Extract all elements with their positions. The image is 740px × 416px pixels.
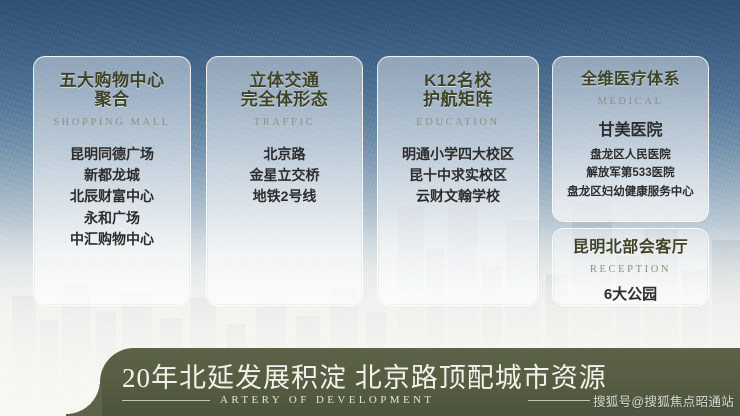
list-item: 云财文翰学校 — [384, 186, 532, 207]
card-title-line-2: 完全体形态 — [213, 90, 356, 109]
card-subtitle: RECEPTION — [559, 264, 702, 275]
poster-canvas: 五大购物中心 聚合 SHOPPING MALL 昆明同德广场 新都龙城 北辰财富… — [0, 0, 740, 416]
card-medical[interactable]: 全维医疗体系 MEDICAL 甘美医院 盘龙区人民医院 解放军第533医院 盘龙… — [552, 56, 709, 222]
list-item: 新都龙城 — [40, 165, 184, 186]
card-item-list: 昆明同德广场 新都龙城 北辰财富中心 永和广场 中汇购物中心 — [40, 144, 184, 250]
list-item: 中汇购物中心 — [40, 229, 184, 250]
banner-rule-left — [122, 400, 210, 401]
card-shopping-mall[interactable]: 五大购物中心 聚合 SHOPPING MALL 昆明同德广场 新都龙城 北辰财富… — [33, 56, 191, 306]
list-item: 昆明同德广场 — [40, 144, 184, 165]
card-item-list: 6大公园 — [559, 284, 702, 307]
list-item: 盘龙区妇幼健康服务中心 — [559, 183, 702, 202]
card-reception[interactable]: 昆明北部会客厅 RECEPTION 6大公园 — [552, 228, 709, 306]
card-title-line-1: 昆明北部会客厅 — [559, 239, 702, 257]
list-item: 北辰财富中心 — [40, 186, 184, 207]
list-item: 昆十中求实校区 — [384, 165, 532, 186]
list-item: 明通小学四大校区 — [384, 144, 532, 165]
watermark-text: 搜狐号@搜狐焦点昭通站 — [593, 391, 734, 410]
card-title: 五大购物中心 聚合 — [40, 71, 184, 110]
card-title: 全维医疗体系 — [559, 71, 702, 89]
card-lead-item: 甘美医院 — [559, 119, 702, 143]
banner-rule-right — [528, 400, 590, 401]
card-item-list: 甘美医院 盘龙区人民医院 解放军第533医院 盘龙区妇幼健康服务中心 — [559, 119, 702, 201]
card-education[interactable]: K12名校 护航矩阵 EDUCATION 明通小学四大校区 昆十中求实校区 云财… — [377, 56, 539, 306]
card-title-line-1: 五大购物中心 — [40, 71, 184, 90]
card-title-line-1: 全维医疗体系 — [559, 71, 702, 89]
list-item: 地铁2号线 — [213, 186, 356, 207]
list-item: 解放军第533医院 — [559, 164, 702, 183]
card-title-line-2: 护航矩阵 — [384, 90, 532, 109]
banner-headline: 20年北延发展积淀 北京路顶配城市资源 — [122, 356, 607, 395]
list-item: 金星立交桥 — [213, 165, 356, 186]
list-item: 北京路 — [213, 144, 356, 165]
list-item: 6大公园 — [559, 284, 702, 307]
card-title: K12名校 护航矩阵 — [384, 71, 532, 110]
card-title-line-1: K12名校 — [384, 71, 532, 90]
card-item-list: 明通小学四大校区 昆十中求实校区 云财文翰学校 — [384, 144, 532, 208]
card-subtitle: EDUCATION — [384, 117, 532, 128]
card-title-line-1: 立体交通 — [213, 71, 356, 90]
card-subtitle: MEDICAL — [559, 96, 702, 107]
list-item: 盘龙区人民医院 — [559, 146, 702, 165]
card-title: 昆明北部会客厅 — [559, 239, 702, 257]
card-title: 立体交通 完全体形态 — [213, 71, 356, 110]
card-item-list: 北京路 金星立交桥 地铁2号线 — [213, 144, 356, 208]
list-item: 永和广场 — [40, 208, 184, 229]
card-traffic[interactable]: 立体交通 完全体形态 TRAFFIC 北京路 金星立交桥 地铁2号线 — [206, 56, 363, 306]
card-subtitle: SHOPPING MALL — [40, 117, 184, 128]
bottom-banner: 20年北延发展积淀 北京路顶配城市资源 ARTERY OF DEVELOPMEN… — [100, 348, 740, 416]
card-title-line-2: 聚合 — [40, 90, 184, 109]
banner-subline: ARTERY OF DEVELOPMENT — [220, 394, 435, 406]
card-subtitle: TRAFFIC — [213, 117, 356, 128]
